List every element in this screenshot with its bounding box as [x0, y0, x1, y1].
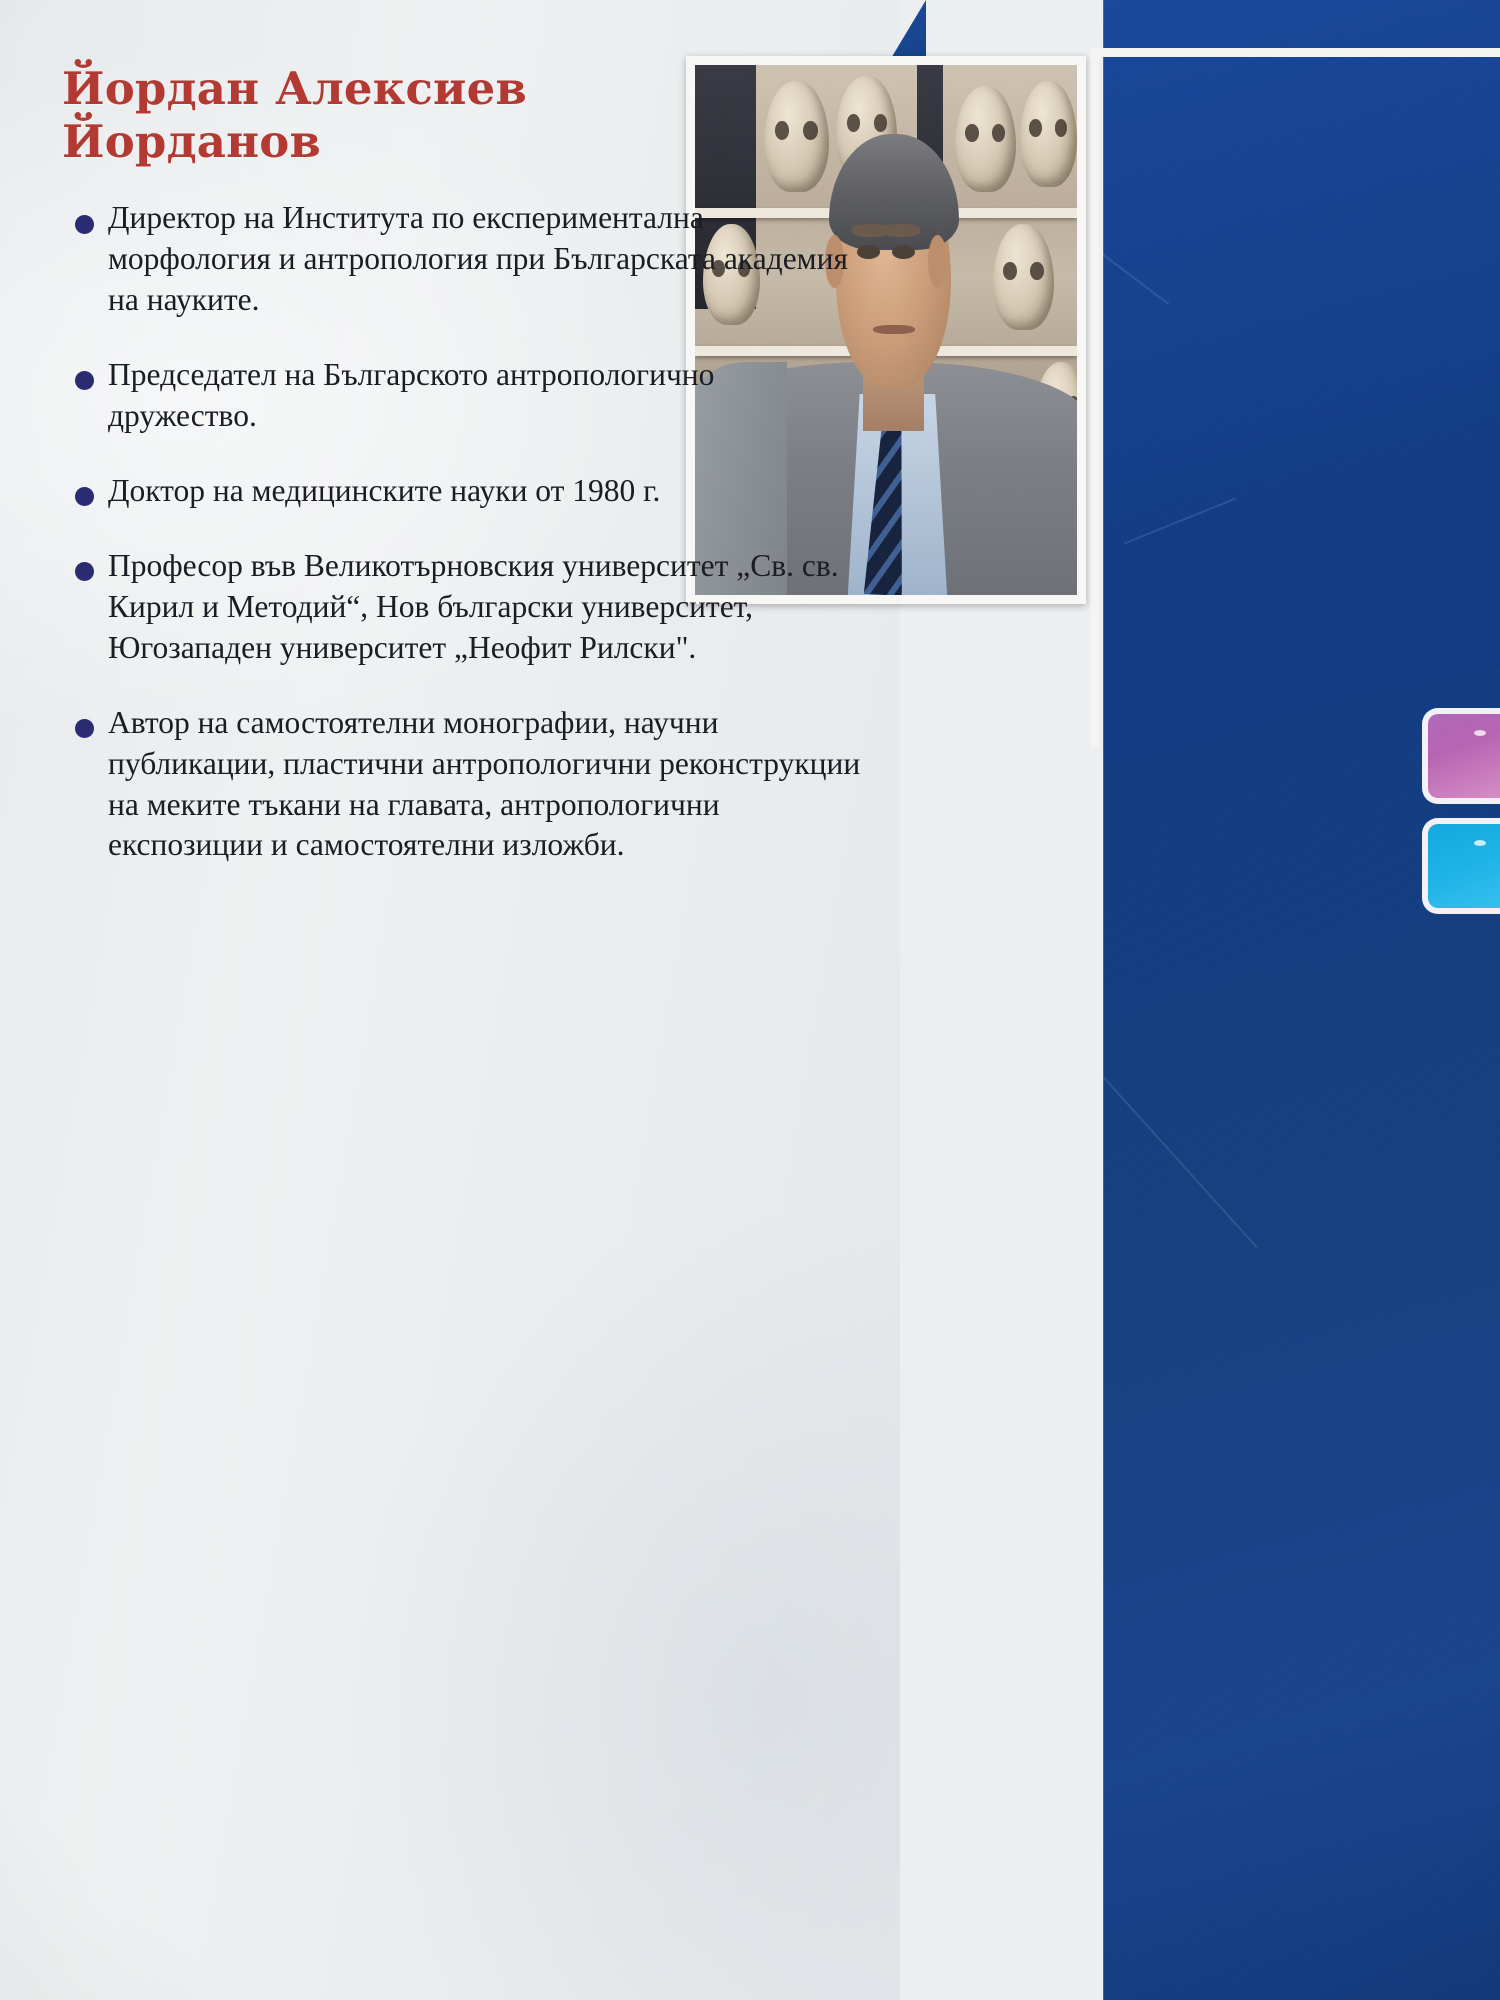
bullet-dot-icon	[75, 487, 94, 506]
subject-eyebrow	[882, 224, 920, 237]
bullet-dot-icon	[75, 215, 94, 234]
bio-bullet-item: Професор във Великотърновския университе…	[62, 546, 862, 669]
skull	[993, 224, 1054, 330]
author-name-line-1: Йордан Алексиев	[62, 62, 527, 115]
scratch-mark	[1082, 1054, 1257, 1249]
bio-bullet-text: Директор на Института по експериментална…	[108, 200, 848, 317]
bullet-dot-icon	[75, 562, 94, 581]
bio-bullet-item: Автор на самостоятелни монографии, научн…	[62, 703, 862, 867]
book-back-cover: Йордан Алексиев Йорданов Директор на Инс…	[0, 0, 1500, 2000]
subject-mouth	[873, 325, 915, 335]
tab-highlight	[1474, 840, 1486, 846]
bio-bullet-item: Директор на Института по експериментална…	[62, 198, 862, 321]
bio-bullet-text: Професор във Великотърновския университе…	[108, 548, 839, 665]
subject-eye	[892, 245, 915, 259]
tab-highlight	[1474, 730, 1486, 736]
bio-bullet-item: Председател на Българското антропологичн…	[62, 355, 862, 437]
bio-bullet-text: Доктор на медицинските науки от 1980 г.	[108, 473, 660, 508]
subject-ear	[928, 235, 947, 288]
skull	[1020, 81, 1077, 187]
skull	[955, 86, 1016, 192]
bio-bullet-item: Доктор на медицинските науки от 1980 г.	[62, 471, 862, 512]
author-name-heading: Йордан Алексиев Йорданов	[62, 62, 862, 168]
cyan-tab[interactable]	[1422, 818, 1500, 914]
bullet-dot-icon	[75, 371, 94, 390]
author-name-line-2: Йорданов	[62, 115, 321, 168]
bio-bullet-text: Председател на Българското антропологичн…	[108, 357, 714, 433]
bio-bullet-text: Автор на самостоятелни монографии, научн…	[108, 705, 860, 863]
bullet-dot-icon	[75, 719, 94, 738]
bio-bullet-list: Директор на Института по експериментална…	[62, 198, 862, 866]
purple-tab[interactable]	[1422, 708, 1500, 804]
author-bio-block: Йордан Алексиев Йорданов Директор на Инс…	[62, 62, 862, 900]
white-frame-notch	[1090, 48, 1500, 748]
